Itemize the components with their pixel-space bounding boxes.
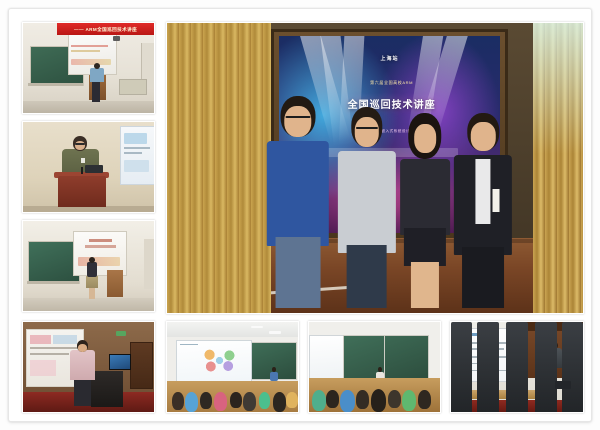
slide-line <box>124 152 142 154</box>
audience-head <box>259 392 271 409</box>
chair <box>562 322 583 412</box>
exit-sign-icon <box>116 331 126 336</box>
name-badge <box>492 189 499 212</box>
speaker-head <box>94 63 101 69</box>
photo-speaker-podium[interactable]: 戴眼镜的讲者站在红色讲台后发言 <box>22 121 155 213</box>
slide-block <box>124 160 149 173</box>
teacher-head <box>272 367 276 372</box>
scene-presenter-mic <box>23 322 154 412</box>
slide-line <box>30 353 69 355</box>
banner-city-label: 上海站 <box>338 55 442 62</box>
slide-line <box>124 147 150 149</box>
presenter-legs <box>89 288 96 300</box>
chair <box>506 322 527 412</box>
shirt <box>267 141 329 245</box>
glasses-icon <box>75 143 85 145</box>
microphone-icon <box>81 167 84 174</box>
slide-line <box>71 50 100 52</box>
speaker-body <box>90 68 103 82</box>
slide-block <box>30 360 56 376</box>
laptop <box>85 165 103 173</box>
red-banner-text: —— ARM全国巡回技术讲座 <box>60 24 152 34</box>
audience-head <box>326 390 339 408</box>
glasses-icon <box>356 127 378 129</box>
hero-person-2 <box>338 107 396 304</box>
audience-head <box>243 392 256 411</box>
slide-line <box>85 245 116 248</box>
slide-line <box>30 347 77 349</box>
audience-head <box>214 392 227 411</box>
chalkboard <box>343 335 429 380</box>
scene-speaker-podium <box>23 122 154 212</box>
chair <box>535 322 556 412</box>
teacher-head <box>378 367 382 372</box>
audience-head <box>230 392 242 408</box>
scene-lecture-hall: —— ARM全国巡回技术讲座 <box>23 23 154 113</box>
top <box>400 159 450 236</box>
board-divider <box>384 335 385 378</box>
banner-subtitle: 第六届全国高校ARM <box>304 80 479 86</box>
face <box>284 106 311 137</box>
face <box>471 122 495 151</box>
slide-graphic <box>71 59 110 65</box>
scene-seminar-room <box>451 322 583 412</box>
hero-person-3 <box>398 113 452 304</box>
chair <box>451 322 472 412</box>
floor <box>23 206 154 212</box>
audience-head <box>418 390 431 409</box>
chair <box>477 322 498 412</box>
audience-head <box>388 390 401 408</box>
audience-head <box>312 390 326 412</box>
face <box>414 124 436 153</box>
curtain-left <box>167 23 271 313</box>
podium <box>58 176 105 207</box>
slide-line <box>71 45 108 48</box>
audience-head <box>371 389 387 412</box>
photo-seminar-room[interactable]: 会议室内讲者对着会议桌演讲 <box>450 321 584 413</box>
photo-presenter-mic[interactable]: 讲者手持话筒在报告厅演讲 <box>22 321 155 413</box>
audience-head <box>286 392 298 408</box>
speaker-box <box>113 36 120 41</box>
gallery-card: —— ARM全国巡回技术讲座 讲者在教室讲台演讲，横幅悬挂于屏幕上方 <box>8 8 592 422</box>
audience-head <box>356 390 369 409</box>
face <box>354 117 378 147</box>
presenter-skirt <box>86 276 98 289</box>
name-badge <box>81 158 85 163</box>
audience-head <box>340 390 354 413</box>
trousers <box>346 245 387 308</box>
glasses-icon <box>286 116 311 118</box>
photo-audience-projector[interactable]: 学生听众面向投影幕与黑板 <box>166 321 299 413</box>
teacher-body <box>270 372 278 382</box>
speaker-legs <box>92 82 100 103</box>
door <box>130 342 153 389</box>
floor <box>23 298 154 311</box>
ceiling-lamp <box>269 331 281 334</box>
scene-audience-projector <box>167 322 298 412</box>
chalk-rail <box>28 83 83 86</box>
presenter-legs <box>74 379 91 406</box>
slide-line <box>89 239 113 242</box>
slide-diagram <box>204 349 235 372</box>
photo-lecture-hall-banner[interactable]: —— ARM全国巡回技术讲座 讲者在教室讲台演讲，横幅悬挂于屏幕上方 <box>22 22 155 114</box>
audience-head <box>402 390 416 412</box>
monitor <box>109 354 131 370</box>
shirt <box>338 151 396 254</box>
door <box>144 239 154 289</box>
presenter-face <box>78 344 87 352</box>
audience-head <box>172 392 184 410</box>
podium <box>91 371 122 407</box>
audience-head <box>273 392 286 412</box>
gallery-page: —— ARM全国巡回技术讲座 讲者在教室讲台演讲，横幅悬挂于屏幕上方 <box>0 0 600 430</box>
podium <box>107 270 123 297</box>
legs <box>411 262 439 308</box>
trousers <box>462 247 504 308</box>
projection-screen <box>309 335 348 382</box>
hero-person-4 <box>454 113 512 304</box>
slide-graphic <box>78 257 120 266</box>
presenter-torso <box>87 262 97 276</box>
audience-head <box>185 392 198 412</box>
window-glow <box>533 23 583 154</box>
laptop <box>555 381 571 388</box>
presenter-body <box>70 350 95 381</box>
scene-group-stage: 上海站 第六届全国高校ARM 全国巡回技术讲座 暨全国大学生嵌入式系统设计大赛启… <box>167 23 583 313</box>
hero-person-1 <box>267 96 329 305</box>
audience-head <box>200 392 212 409</box>
chalk-rail <box>27 281 79 284</box>
scene-classroom-board <box>309 322 440 412</box>
photo-group-stage[interactable]: 上海站 第六届全国高校ARM 全国巡回技术讲座 暨全国大学生嵌入式系统设计大赛启… <box>166 22 584 314</box>
slide-line <box>180 344 198 346</box>
slide-block <box>124 133 148 144</box>
floor <box>23 101 154 113</box>
slide-block <box>30 335 51 344</box>
desk <box>119 79 147 95</box>
slide-block <box>53 335 77 344</box>
jeans <box>276 237 321 308</box>
scene-female-presenter <box>23 221 154 311</box>
ceiling-lamp <box>251 326 263 329</box>
dress-shirt <box>476 159 491 224</box>
photo-female-presenter[interactable]: 女主持人在黑板与投影幕前致辞 <box>22 220 155 312</box>
ceiling <box>167 322 298 337</box>
skirt <box>404 228 446 266</box>
photo-classroom-board[interactable]: 教室内讲者在黑板前授课，学生满座 <box>308 321 441 413</box>
